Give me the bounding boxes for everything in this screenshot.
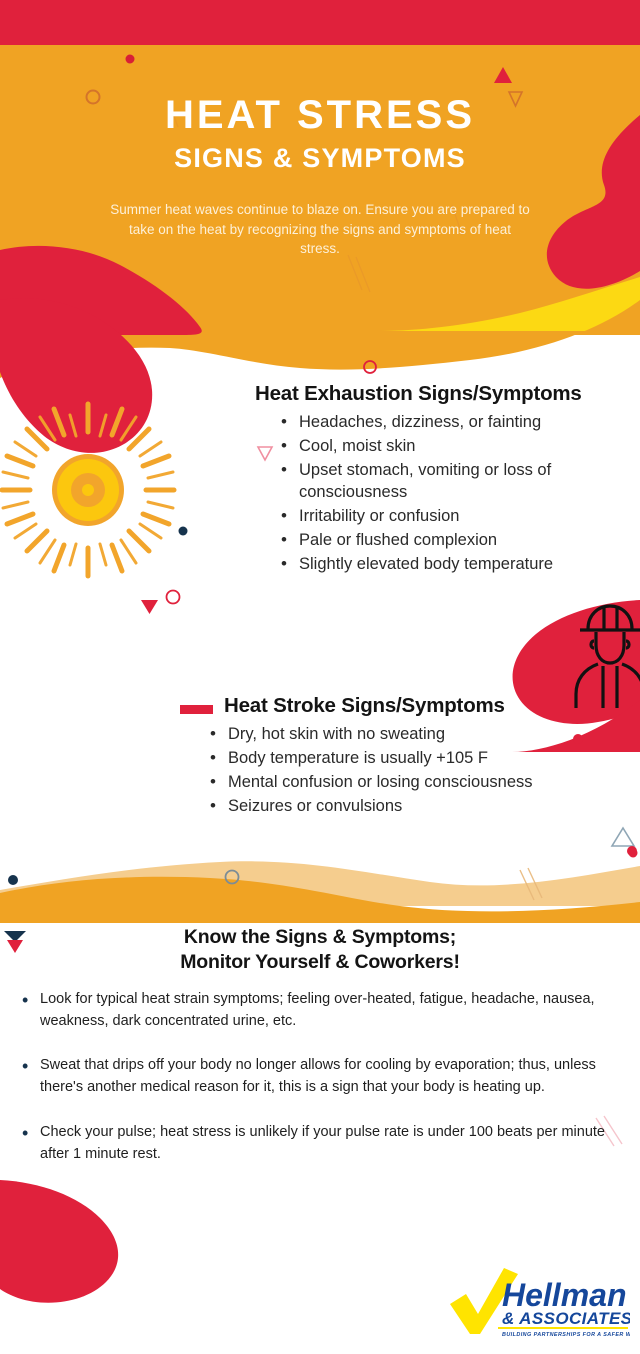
header-hero: HEAT STRESS SIGNS & SYMPTOMS Summer heat… [0, 45, 640, 335]
logo-artwork: Hellman & ASSOCIATES BUILDING PARTNERSHI… [444, 1266, 630, 1340]
logo-sub: & ASSOCIATES [502, 1309, 630, 1328]
page-subtitle: SIGNS & SYMPTOMS [0, 145, 640, 172]
list-item: Seizures or convulsions [208, 796, 620, 818]
section-heat-exhaustion: Heat Exhaustion Signs/Symptoms Headaches… [255, 382, 635, 578]
heat-exhaustion-heading: Heat Exhaustion Signs/Symptoms [255, 382, 635, 406]
list-item: Cool, moist skin [279, 436, 635, 458]
heat-stroke-heading-row: Heat Stroke Signs/Symptoms [180, 694, 620, 724]
bottom-heading: Know the Signs & Symptoms; Monitor Yours… [40, 925, 600, 975]
deco-dot [627, 846, 637, 856]
bottom-red-blob [0, 1180, 118, 1303]
logo-tagline: BUILDING PARTNERSHIPS FOR A SAFER WORKPL… [502, 1332, 630, 1338]
top-red-bar [0, 0, 640, 45]
list-item: Body temperature is usually +105 F [208, 748, 620, 770]
list-item: Pale or flushed complexion [279, 530, 635, 552]
list-item: Sweat that drips off your body no longer… [22, 1055, 612, 1099]
hero-background-shapes [0, 45, 640, 335]
list-item: Mental confusion or losing consciousness [208, 772, 620, 794]
page-title: HEAT STRESS [0, 95, 640, 135]
header-lede: Summer heat waves continue to blaze on. … [110, 200, 530, 259]
list-item: Look for typical heat strain symptoms; f… [22, 989, 612, 1033]
heat-stroke-list: Dry, hot skin with no sweating Body temp… [180, 724, 620, 818]
heat-stroke-heading: Heat Stroke Signs/Symptoms [224, 694, 505, 718]
section-know-the-signs: Know the Signs & Symptoms; Monitor Yours… [0, 925, 640, 1188]
dune-back [0, 861, 640, 906]
logo-name: Hellman [502, 1277, 626, 1313]
list-item: Upset stomach, vomiting or loss of consc… [279, 460, 635, 504]
deco-dot [179, 527, 188, 536]
list-item: Check your pulse; heat stress is unlikel… [22, 1122, 612, 1166]
section-heat-stroke: Heat Stroke Signs/Symptoms Dry, hot skin… [180, 694, 620, 820]
dune-front [0, 877, 640, 922]
heat-exhaustion-list: Headaches, dizziness, or fainting Cool, … [255, 412, 635, 576]
bottom-heading-line1: Know the Signs & Symptoms; [40, 925, 600, 950]
list-item: Slightly elevated body temperature [279, 554, 635, 576]
list-item: Dry, hot skin with no sweating [208, 724, 620, 746]
hellman-associates-logo[interactable]: Hellman & ASSOCIATES BUILDING PARTNERSHI… [444, 1266, 630, 1340]
list-item: Headaches, dizziness, or fainting [279, 412, 635, 434]
bottom-heading-line2: Monitor Yourself & Coworkers! [40, 950, 600, 975]
sun-icon [2, 404, 174, 576]
deco-dot [126, 55, 135, 64]
list-item: Irritability or confusion [279, 506, 635, 528]
infographic-page: HEAT STRESS SIGNS & SYMPTOMS Summer heat… [0, 0, 640, 1354]
bottom-tips-list: Look for typical heat strain symptoms; f… [0, 989, 640, 1166]
deco-dot [8, 875, 18, 885]
red-dash-icon [180, 705, 213, 714]
worker-hardhat-icon [576, 606, 640, 708]
